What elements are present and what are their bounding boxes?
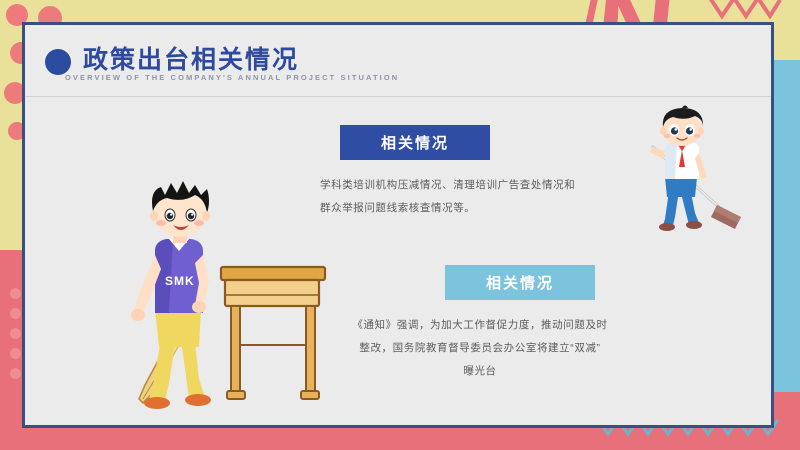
illustration-boy-sweeping-with-broom-and-desk: SMK bbox=[103, 185, 333, 420]
block-1-body: 学科类培训机构压减情况、清理培训广告查处情况和 群众举报问题线索核查情况等。 bbox=[320, 174, 575, 220]
block-2-line: 《通知》强调，为加大工作督促力度，推动问题及时 bbox=[320, 314, 640, 337]
content-block-1: 相关情况 学科类培训机构压减情况、清理培训广告查处情况和 群众举报问题线索核查情… bbox=[320, 125, 575, 220]
page-subtitle: OVERVIEW OF THE COMPANY'S ANNUAL PROJECT… bbox=[65, 73, 399, 82]
block-1-line: 群众举报问题线索核查情况等。 bbox=[320, 197, 575, 220]
block-1-tag: 相关情况 bbox=[340, 125, 490, 160]
block-1-line: 学科类培训机构压减情况、清理培训广告查处情况和 bbox=[320, 174, 575, 197]
block-2-tag: 相关情况 bbox=[445, 265, 595, 300]
decor-dot bbox=[10, 348, 21, 359]
block-2-body: 《通知》强调，为加大工作督促力度，推动问题及时 整改，国务院教育督导委员会办公室… bbox=[320, 314, 640, 383]
circle-bullet-icon bbox=[45, 49, 71, 75]
content-block-2: 相关情况 《通知》强调，为加大工作督促力度，推动问题及时 整改，国务院教育督导委… bbox=[320, 265, 640, 383]
illustration-boy-sweeping-with-mop bbox=[625, 105, 755, 235]
decor-dot bbox=[10, 368, 21, 379]
decor-zigzag-coral-icon bbox=[710, 0, 780, 22]
block-2-line: 整改，国务院教育督导委员会办公室将建立“双减” bbox=[320, 337, 640, 360]
decor-dot bbox=[10, 308, 21, 319]
block-2-line: 曝光台 bbox=[320, 360, 640, 383]
page-title: 政策出台相关情况 bbox=[83, 40, 299, 76]
decor-dot bbox=[10, 328, 21, 339]
slide-card: 政策出台相关情况 OVERVIEW OF THE COMPANY'S ANNUA… bbox=[22, 22, 774, 428]
slide-header: 政策出台相关情况 OVERVIEW OF THE COMPANY'S ANNUA… bbox=[25, 25, 771, 97]
decor-dot bbox=[10, 288, 21, 299]
header-divider bbox=[25, 96, 771, 97]
svg-text:SMK: SMK bbox=[165, 274, 195, 288]
